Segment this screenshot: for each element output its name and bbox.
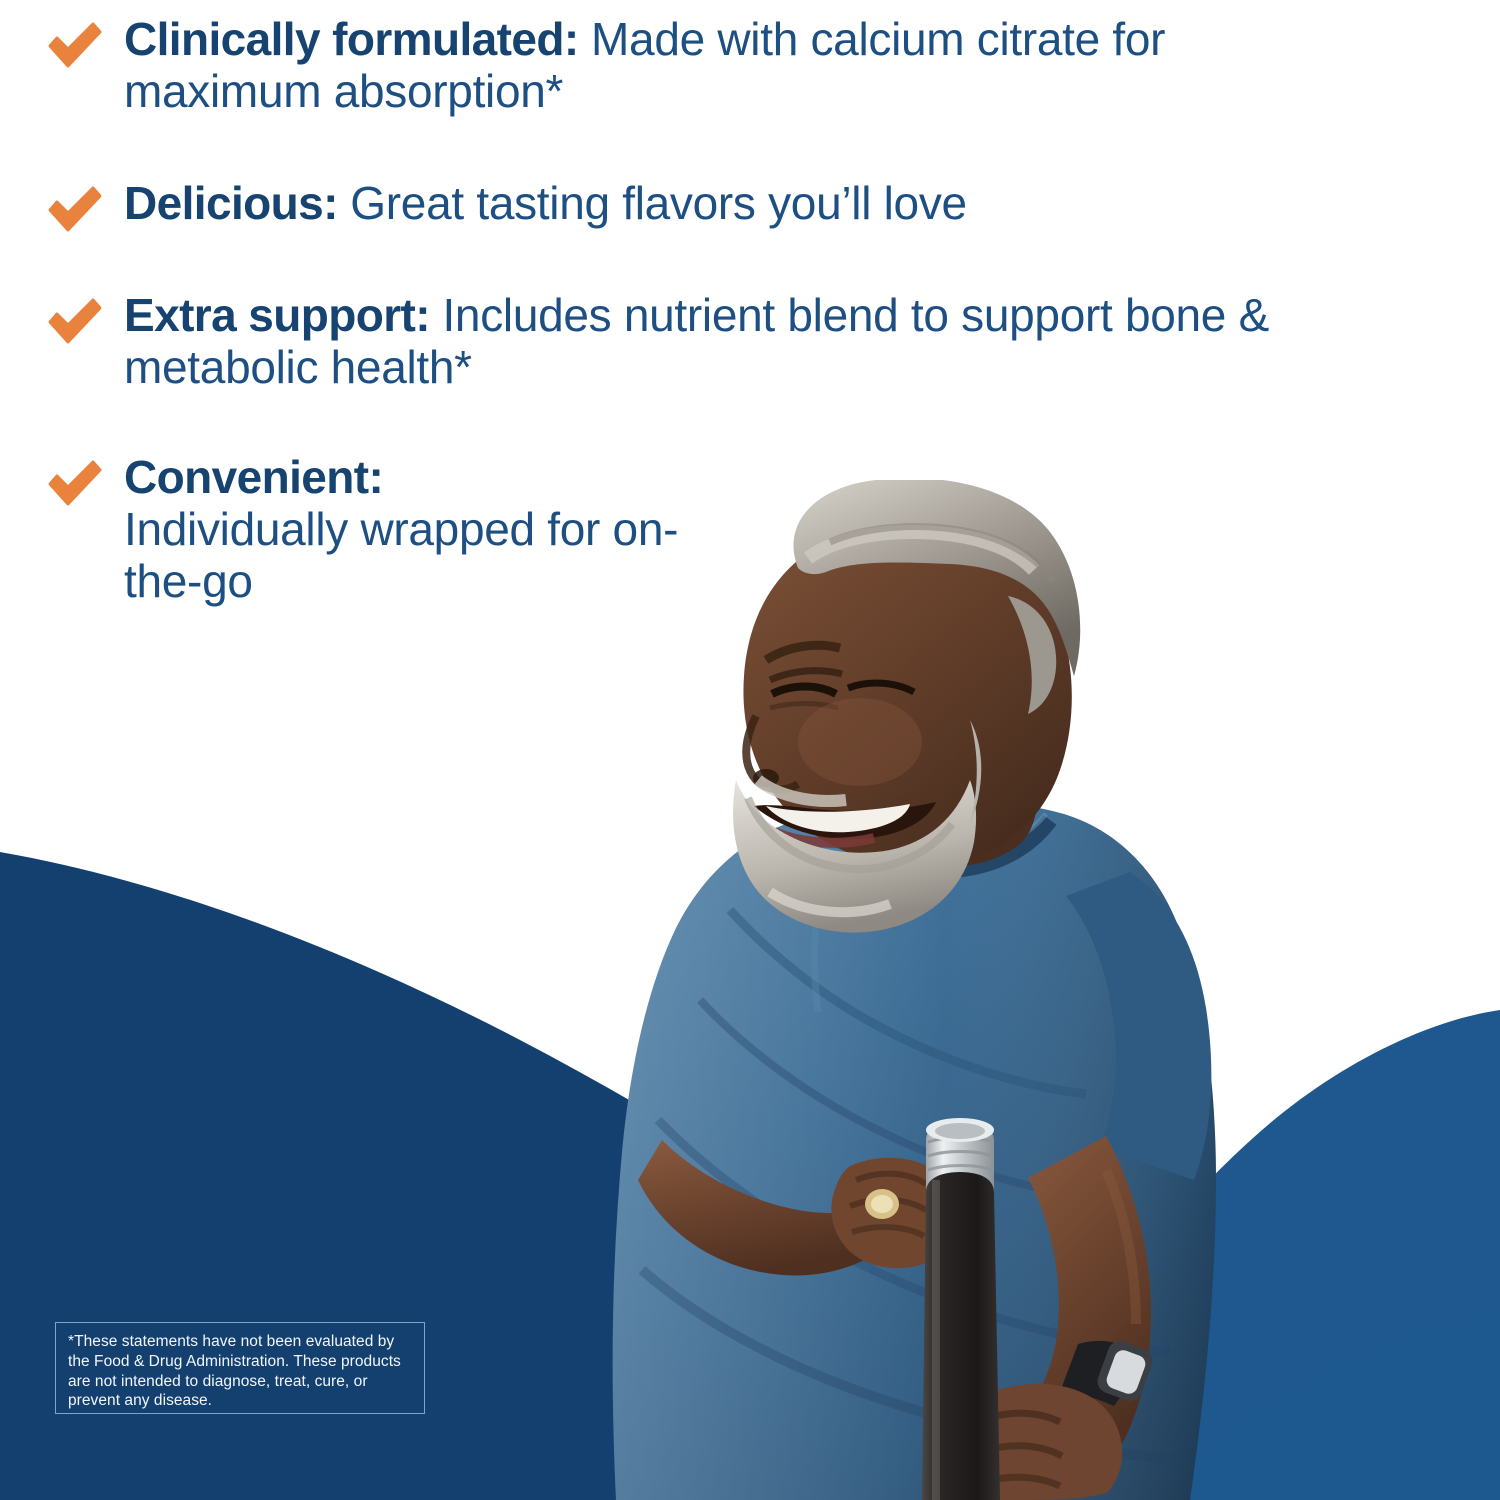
benefit-body: Individually wrapped for on-the-go <box>124 503 678 607</box>
benefit-lead: Delicious: <box>124 177 338 229</box>
benefit-lead: Extra support: <box>124 289 430 341</box>
product-benefits-panel: Clinically formulated: Made with calcium… <box>0 0 1500 1500</box>
fda-disclaimer-text: *These statements have not been evaluate… <box>68 1332 412 1411</box>
checkmark-icon <box>44 454 106 516</box>
checkmark-icon <box>44 292 106 354</box>
benefit-item-clinically-formulated: Clinically formulated: Made with calcium… <box>44 14 1364 118</box>
fda-disclaimer-box: *These statements have not been evaluate… <box>55 1322 425 1414</box>
benefit-text: Convenient:Individually wrapped for on-t… <box>124 452 684 608</box>
benefit-body: Great tasting flavors you’ll love <box>338 177 967 229</box>
benefit-lead: Clinically formulated: <box>124 13 579 65</box>
benefit-item-extra-support: Extra support: Includes nutrient blend t… <box>44 290 1364 394</box>
checkmark-icon <box>44 16 106 78</box>
benefit-item-convenient: Convenient:Individually wrapped for on-t… <box>44 452 684 608</box>
benefit-text: Extra support: Includes nutrient blend t… <box>124 290 1364 394</box>
checkmark-icon <box>44 180 106 242</box>
benefit-item-delicious: Delicious: Great tasting flavors you’ll … <box>44 178 967 242</box>
benefit-lead: Convenient: <box>124 452 684 504</box>
benefit-text: Clinically formulated: Made with calcium… <box>124 14 1364 118</box>
benefit-text: Delicious: Great tasting flavors you’ll … <box>124 178 967 230</box>
